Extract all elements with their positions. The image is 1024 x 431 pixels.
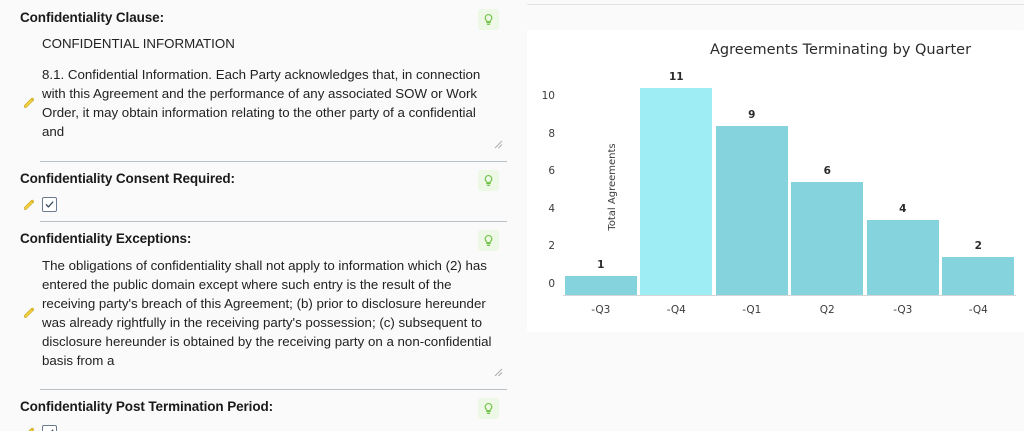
field-label: Confidentiality Consent Required: [20,170,235,188]
field-header: Confidentiality Exceptions: [20,230,515,251]
agreements-chart-card: Agreements Terminating by Quarter Total … [527,30,1024,332]
bar-value-label: 11 [669,71,684,83]
bar-series: 1-Q311-Q49-Q16Q24-Q32-Q4 [563,78,1016,295]
y-axis-tick: 6 [548,165,555,177]
app-root: Confidentiality Clause: CONFIDENTIAL INF… [0,0,1024,431]
chart-bar[interactable] [942,257,1014,295]
y-axis-tick: 0 [548,278,555,290]
highlighter-pencil-icon[interactable] [20,96,40,110]
chart-bar[interactable] [565,276,637,295]
bar-slot[interactable]: 6Q2 [790,78,866,295]
field-editor-row [20,425,515,431]
y-axis-tick: 8 [548,128,555,140]
lightbulb-icon[interactable] [478,9,499,30]
x-axis-tick: Q2 [820,304,835,316]
top-separator [527,4,1024,5]
bar-slot[interactable]: 9-Q1 [714,78,790,295]
x-axis-line [563,295,1016,296]
field-confidentiality-consent-required: Confidentiality Consent Required: [0,162,515,222]
field-editor-row: The obligations of confidentiality shall… [20,256,515,370]
field-confidentiality-post-termination-period: Confidentiality Post Termination Period: [0,390,515,431]
field-editor-row [20,197,515,212]
y-axis-tick: 10 [542,90,555,102]
bar-value-label: 9 [748,109,755,121]
field-label: Confidentiality Clause: [20,9,164,27]
bar-value-label: 6 [824,165,831,177]
highlighter-pencil-icon[interactable] [20,198,40,212]
confidentiality-clause-textarea[interactable]: 8.1. Confidential Information. Each Part… [42,65,515,141]
y-axis-tick: 4 [548,203,555,215]
bar-slot[interactable]: 11-Q4 [639,78,715,295]
contract-fields-panel: Confidentiality Clause: CONFIDENTIAL INF… [0,0,515,431]
chart-plot-area: Total Agreements 0246810 1-Q311-Q49-Q16Q… [563,78,1016,296]
field-header: Confidentiality Clause: [20,9,515,30]
field-header: Confidentiality Post Termination Period: [20,398,515,419]
bar-value-label: 4 [899,203,906,215]
x-axis-tick: -Q3 [591,304,610,316]
x-axis-tick: -Q4 [667,304,686,316]
chart-bar[interactable] [791,182,863,295]
resize-grip-icon[interactable] [493,139,503,149]
bar-value-label: 2 [975,240,982,252]
field-label: Confidentiality Post Termination Period: [20,398,273,416]
field-label: Confidentiality Exceptions: [20,230,191,248]
highlighter-pencil-icon[interactable] [20,306,40,320]
bar-slot[interactable]: 4-Q3 [865,78,941,295]
chart-bottom-strip [527,332,1024,431]
chart-bar[interactable] [716,126,788,295]
field-header: Confidentiality Consent Required: [20,170,515,191]
consent-required-checkbox[interactable] [42,197,57,212]
confidentiality-exceptions-textarea[interactable]: The obligations of confidentiality shall… [42,256,515,370]
field-confidentiality-exceptions: Confidentiality Exceptions: The obligati… [0,222,515,390]
x-axis-tick: -Q4 [969,304,988,316]
x-axis-tick: -Q3 [893,304,912,316]
lightbulb-icon[interactable] [478,230,499,251]
chart-bar[interactable] [867,220,939,295]
highlighter-pencil-icon[interactable] [20,426,40,431]
chart-panel: Agreements Terminating by Quarter Total … [515,0,1024,431]
y-axis-tick: 2 [548,240,555,252]
chart-title: Agreements Terminating by Quarter [527,42,1024,58]
field-confidentiality-clause: Confidentiality Clause: CONFIDENTIAL INF… [0,0,515,162]
field-editor-row: 8.1. Confidential Information. Each Part… [20,65,515,141]
post-termination-period-checkbox[interactable] [42,425,57,431]
bar-value-label: 1 [597,259,604,271]
field-readonly-value: CONFIDENTIAL INFORMATION [20,30,515,53]
resize-grip-icon[interactable] [493,367,503,377]
lightbulb-icon[interactable] [478,398,499,419]
bar-slot[interactable]: 2-Q4 [941,78,1017,295]
x-axis-tick: -Q1 [742,304,761,316]
bar-slot[interactable]: 1-Q3 [563,78,639,295]
chart-bar[interactable] [640,88,712,295]
lightbulb-icon[interactable] [478,170,499,191]
